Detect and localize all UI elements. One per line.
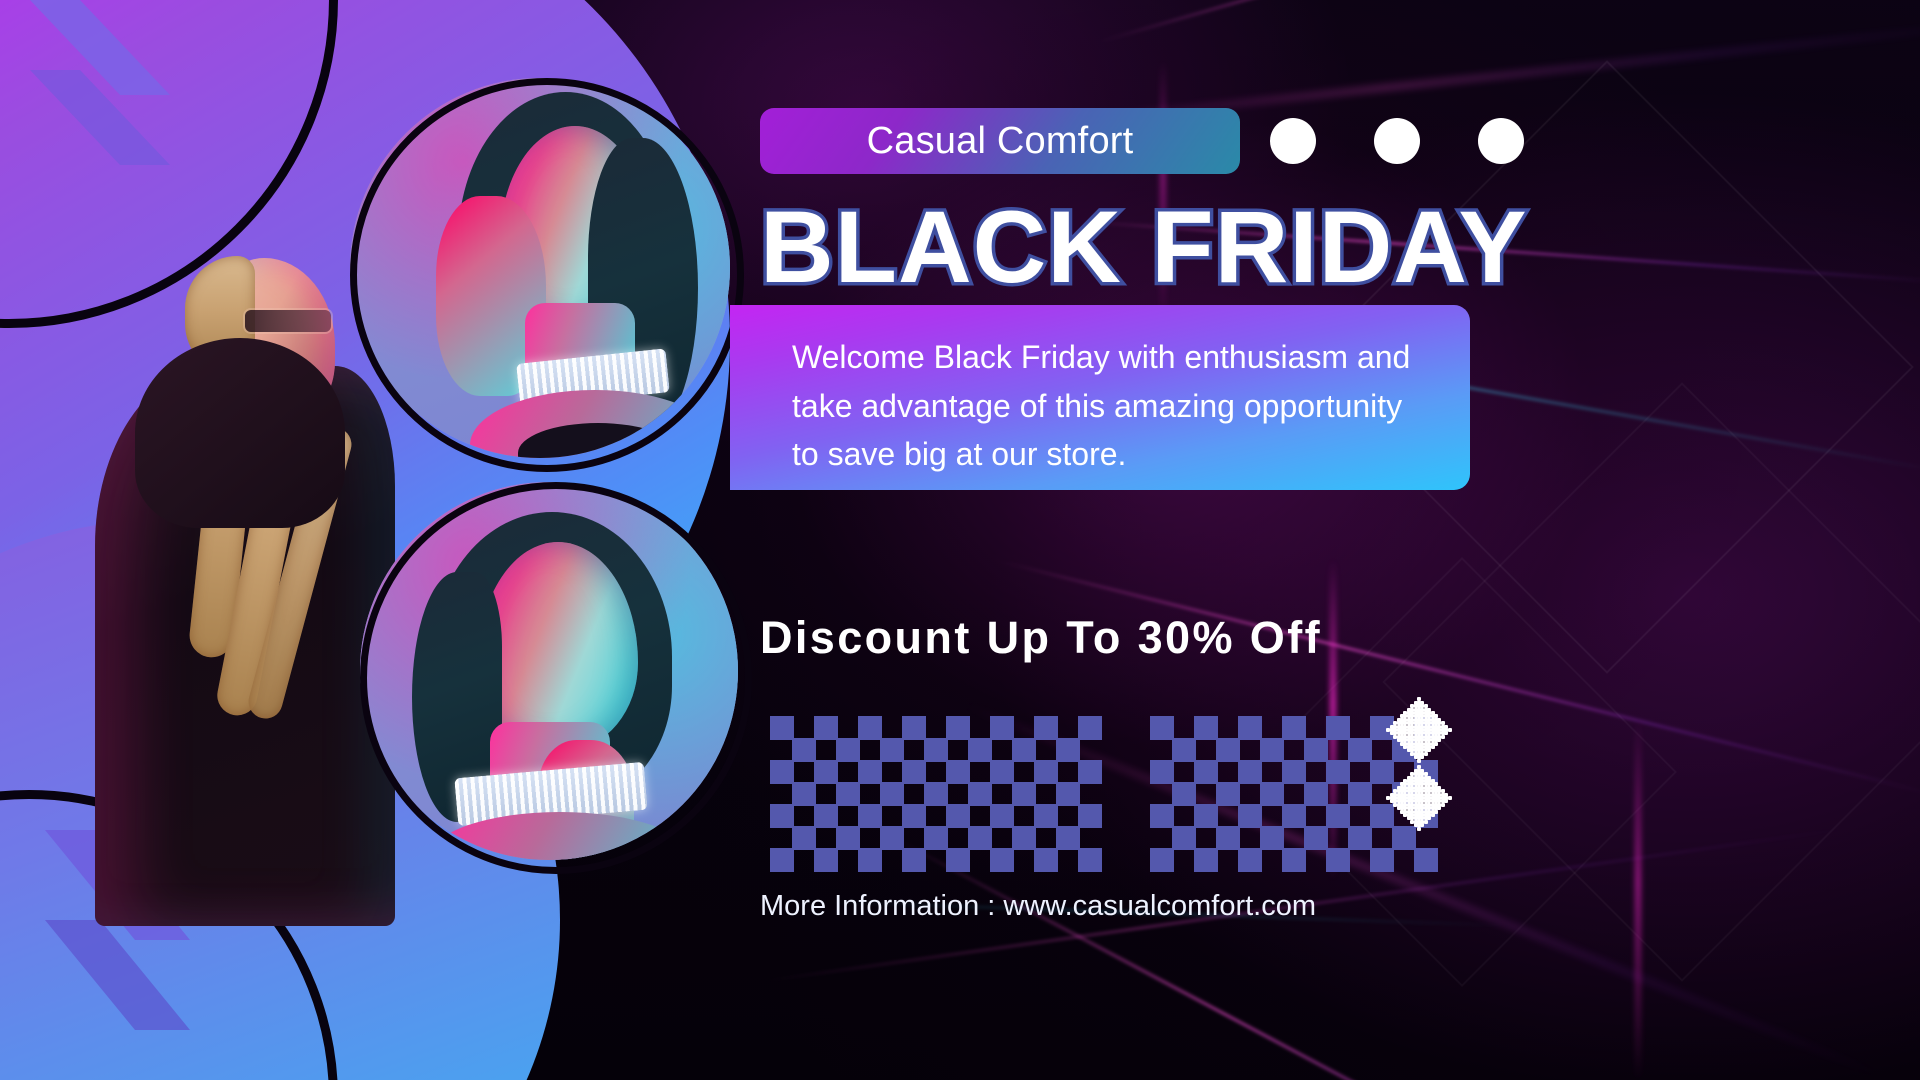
checker-square	[1304, 738, 1328, 762]
checker-square	[1150, 760, 1174, 784]
brand-badge[interactable]: Casual Comfort	[760, 108, 1240, 174]
checker-square	[990, 716, 1014, 740]
checker-square	[990, 804, 1014, 828]
checker-square	[968, 826, 992, 850]
checker-square	[770, 804, 794, 828]
checker-square	[1012, 782, 1036, 806]
checker-square	[1150, 848, 1174, 872]
checker-square	[1034, 760, 1058, 784]
checker-square	[1348, 738, 1372, 762]
checker-square	[1194, 804, 1218, 828]
checker-square	[1260, 738, 1284, 762]
checker-square	[968, 738, 992, 762]
checker-square	[902, 848, 926, 872]
checker-square	[1078, 760, 1102, 784]
checker-square	[1238, 760, 1262, 784]
checker-square	[1078, 716, 1102, 740]
dot-decoration-group	[1270, 118, 1524, 164]
checker-square	[946, 848, 970, 872]
checker-square	[1034, 716, 1058, 740]
diamond-dot	[1434, 810, 1438, 814]
checker-square	[836, 826, 860, 850]
checker-square	[1326, 848, 1350, 872]
diamond-dot	[1431, 813, 1435, 817]
checker-square	[1012, 738, 1036, 762]
checker-square	[858, 804, 882, 828]
checker-square	[858, 716, 882, 740]
promo-paragraph-text: Welcome Black Friday with enthusiasm and…	[792, 333, 1412, 479]
checker-square	[924, 782, 948, 806]
checker-square	[1370, 848, 1394, 872]
checker-square	[814, 804, 838, 828]
checker-square	[1216, 826, 1240, 850]
checker-square	[814, 760, 838, 784]
checker-square	[880, 738, 904, 762]
checker-square	[1238, 804, 1262, 828]
checker-square	[880, 782, 904, 806]
checker-square	[1172, 782, 1196, 806]
checker-square	[1056, 826, 1080, 850]
checker-square	[1056, 782, 1080, 806]
checker-square	[770, 848, 794, 872]
checker-square	[902, 760, 926, 784]
diamond-dot	[1448, 796, 1452, 800]
checker-square	[1282, 804, 1306, 828]
checker-square	[858, 760, 882, 784]
checker-square	[1172, 826, 1196, 850]
diamond-dot	[1417, 759, 1421, 763]
checker-square	[836, 738, 860, 762]
checker-square	[1304, 782, 1328, 806]
checker-square	[990, 760, 1014, 784]
diamond-dot-decoration	[1375, 700, 1461, 830]
checker-square	[880, 826, 904, 850]
page-title: BLACK FRIDAY	[760, 196, 1760, 298]
checker-square	[1194, 848, 1218, 872]
diamond-dot	[1424, 820, 1428, 824]
content-column: Casual Comfort BLACK FRIDAY Welcome Blac…	[760, 0, 1920, 1080]
checker-square	[1172, 738, 1196, 762]
checker-square	[1260, 826, 1284, 850]
checker-square	[946, 760, 970, 784]
diamond-dot	[1441, 803, 1445, 807]
checker-square	[792, 826, 816, 850]
checker-square	[770, 760, 794, 784]
brand-badge-label: Casual Comfort	[867, 120, 1134, 163]
checker-square	[902, 804, 926, 828]
diamond-dot	[1441, 735, 1445, 739]
checker-pattern-block	[770, 716, 1120, 826]
checker-square	[1034, 848, 1058, 872]
checker-square	[1282, 760, 1306, 784]
checker-square	[1414, 848, 1438, 872]
diamond-dot	[1420, 755, 1424, 759]
checker-square	[792, 738, 816, 762]
discount-headline: Discount Up To 30% Off	[760, 612, 1322, 664]
checker-square	[1238, 848, 1262, 872]
checker-square	[1194, 716, 1218, 740]
checker-square	[1056, 738, 1080, 762]
checker-square	[990, 848, 1014, 872]
checker-square	[792, 782, 816, 806]
checker-square	[1282, 848, 1306, 872]
more-information-footer: More Information : www.casualcomfort.com	[760, 890, 1316, 923]
checker-square	[1348, 826, 1372, 850]
diamond-dot	[1437, 806, 1441, 810]
checker-square	[902, 716, 926, 740]
checker-square	[946, 804, 970, 828]
checker-square	[1238, 716, 1262, 740]
dot-icon	[1478, 118, 1524, 164]
checker-square	[1216, 738, 1240, 762]
diamond-dot	[1437, 738, 1441, 742]
checker-square	[1078, 848, 1102, 872]
dot-icon	[1374, 118, 1420, 164]
model-photo-bottom	[360, 482, 738, 860]
checker-square	[1012, 826, 1036, 850]
checker-square	[1260, 782, 1284, 806]
checker-square	[1326, 804, 1350, 828]
checker-square	[814, 848, 838, 872]
checker-square	[924, 826, 948, 850]
promo-paragraph-panel: Welcome Black Friday with enthusiasm and…	[730, 305, 1470, 490]
checker-square	[968, 782, 992, 806]
checker-square	[1326, 716, 1350, 740]
diamond-dot	[1448, 728, 1452, 732]
checker-square	[1282, 716, 1306, 740]
checker-square	[924, 738, 948, 762]
diamond-dot	[1420, 823, 1424, 827]
checker-square	[814, 716, 838, 740]
hoodie-hood	[135, 338, 345, 528]
black-friday-poster: Casual Comfort BLACK FRIDAY Welcome Blac…	[0, 0, 1920, 1080]
dot-icon	[1270, 118, 1316, 164]
checker-square	[1304, 826, 1328, 850]
checker-square	[770, 716, 794, 740]
checker-square	[858, 848, 882, 872]
checker-square	[1194, 760, 1218, 784]
model-photo-top	[350, 78, 730, 458]
checker-square	[836, 782, 860, 806]
checker-square	[1348, 782, 1372, 806]
diamond-dot	[1417, 827, 1421, 831]
checker-square	[946, 716, 970, 740]
diamond-dot	[1431, 745, 1435, 749]
checker-square	[1034, 804, 1058, 828]
diamond-dot	[1434, 742, 1438, 746]
sunglasses-icon	[245, 310, 331, 332]
checker-square	[1078, 804, 1102, 828]
diamond-dot	[1424, 752, 1428, 756]
checker-square	[1326, 760, 1350, 784]
checker-square	[1150, 804, 1174, 828]
checker-square	[1150, 716, 1174, 740]
checker-square	[1216, 782, 1240, 806]
